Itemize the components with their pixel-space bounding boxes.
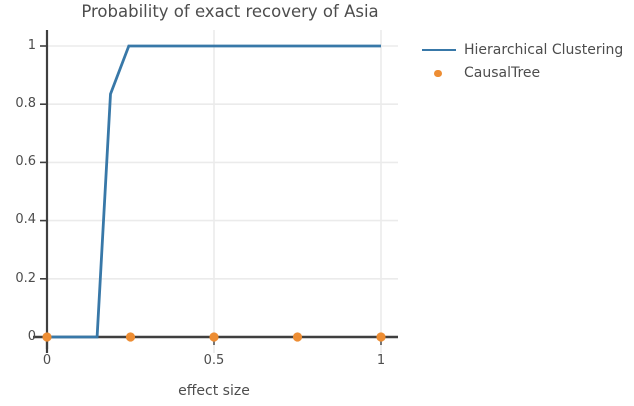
y-tick-label: 0.6 [0, 154, 36, 169]
y-tick-label: 0.4 [0, 212, 36, 227]
chart-figure: Probability of exact recovery of Asia [0, 0, 634, 406]
legend-line-swatch-icon [422, 44, 456, 56]
vertical-gridlines [214, 30, 381, 353]
horizontal-gridlines [47, 46, 398, 279]
legend-item-causaltree[interactable]: CausalTree [422, 61, 634, 84]
y-tick-label: 1 [0, 38, 36, 53]
data-point [376, 332, 385, 341]
legend-item-hierarchical-clustering[interactable]: Hierarchical Clustering [422, 38, 634, 61]
y-tick-label: 0.8 [0, 96, 36, 111]
chart-legend: Hierarchical Clustering CausalTree [422, 38, 634, 84]
data-point [126, 332, 135, 341]
x-tick-label: 0 [27, 353, 67, 368]
x-tick-label: 0.5 [194, 353, 234, 368]
legend-dot-swatch-icon [422, 67, 456, 79]
x-axis-title: effect size [47, 383, 381, 399]
data-point [209, 332, 218, 341]
y-tick-label: 0.2 [0, 271, 36, 286]
data-point [42, 332, 51, 341]
legend-item-label: Hierarchical Clustering [464, 42, 623, 58]
data-point [293, 332, 302, 341]
x-tick-label: 1 [361, 353, 401, 368]
legend-item-label: CausalTree [464, 65, 540, 81]
y-tick-label: 0 [0, 329, 36, 344]
